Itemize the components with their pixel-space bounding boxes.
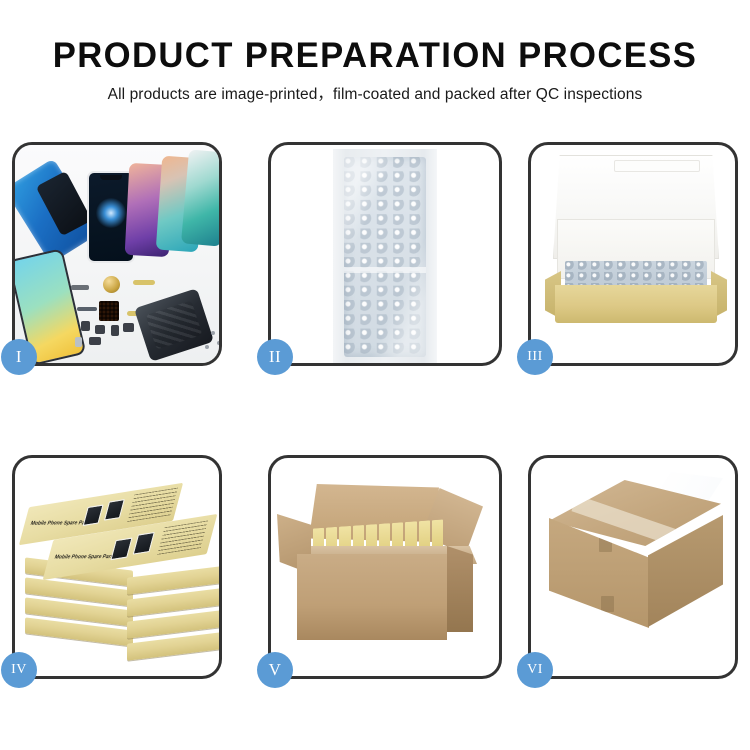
- step-badge-3: III: [517, 339, 553, 375]
- screw-icon: [205, 345, 209, 349]
- step-5-image: [271, 458, 499, 676]
- flex-cable-icon: [133, 280, 155, 285]
- step-badge-6: VI: [517, 652, 553, 688]
- step-panel-6[interactable]: VI: [528, 455, 738, 679]
- step-4-image: Mobile Phone Spare Parts Mobile Phone Sp…: [15, 458, 219, 676]
- chip-grid-icon: [99, 301, 119, 321]
- box-front-panel: [555, 285, 717, 323]
- lid-tab: [614, 160, 700, 172]
- step-badge-1: I: [1, 339, 37, 375]
- step-badge-4: IV: [1, 652, 37, 688]
- small-part-icon: [89, 337, 101, 345]
- small-part-icon: [95, 325, 105, 334]
- small-part-icon: [123, 323, 134, 332]
- box-stack: Mobile Phone Spare Parts Mobile Phone Sp…: [21, 472, 219, 672]
- speaker-coil-icon: [103, 276, 120, 293]
- bubble-wrap-pouch: [333, 149, 437, 363]
- step-badge-2: II: [257, 339, 293, 375]
- step-badge-5: V: [257, 652, 293, 688]
- product-photo: [83, 504, 104, 526]
- product-photo: [104, 499, 125, 521]
- step-6-image: [531, 458, 735, 676]
- small-part-icon: [111, 325, 119, 336]
- step-panel-1[interactable]: I: [12, 142, 222, 366]
- film-sheen: [344, 157, 426, 357]
- film-seam: [344, 267, 426, 273]
- product-photo: [110, 537, 132, 560]
- carton-front-panel: [297, 554, 447, 640]
- step-2-image: [271, 145, 499, 363]
- flex-cable-icon: [77, 307, 97, 311]
- step-1-image: [15, 145, 219, 363]
- step-panel-3[interactable]: III: [528, 142, 738, 366]
- product-preparation-infographic: PRODUCT PREPARATION PROCESS All products…: [0, 0, 750, 750]
- screw-icon: [217, 341, 219, 345]
- step-3-image: [531, 145, 735, 363]
- step-panel-4[interactable]: Mobile Phone Spare Parts Mobile Phone Sp…: [12, 455, 222, 679]
- page-subtitle: All products are image-printed，film-coat…: [0, 87, 750, 103]
- header: PRODUCT PREPARATION PROCESS All products…: [0, 0, 750, 103]
- step-panel-2[interactable]: II: [268, 142, 502, 366]
- screw-icon: [211, 331, 215, 335]
- product-photo: [133, 532, 155, 555]
- battery-part-icon: [75, 337, 82, 347]
- carton-side-panel: [447, 546, 473, 632]
- spec-lines: [127, 488, 178, 522]
- notch-icon: [100, 175, 122, 180]
- box-label: Mobile Phone Spare Parts: [53, 554, 116, 561]
- carton-notch: [599, 536, 612, 552]
- page-title: PRODUCT PREPARATION PROCESS: [4, 38, 747, 73]
- small-part-icon: [81, 321, 90, 331]
- steps-grid: I II: [0, 140, 750, 685]
- step-panel-5[interactable]: V: [268, 455, 502, 679]
- carton-notch: [601, 596, 614, 612]
- spec-lines: [157, 520, 208, 554]
- connector-part-icon: [71, 285, 89, 290]
